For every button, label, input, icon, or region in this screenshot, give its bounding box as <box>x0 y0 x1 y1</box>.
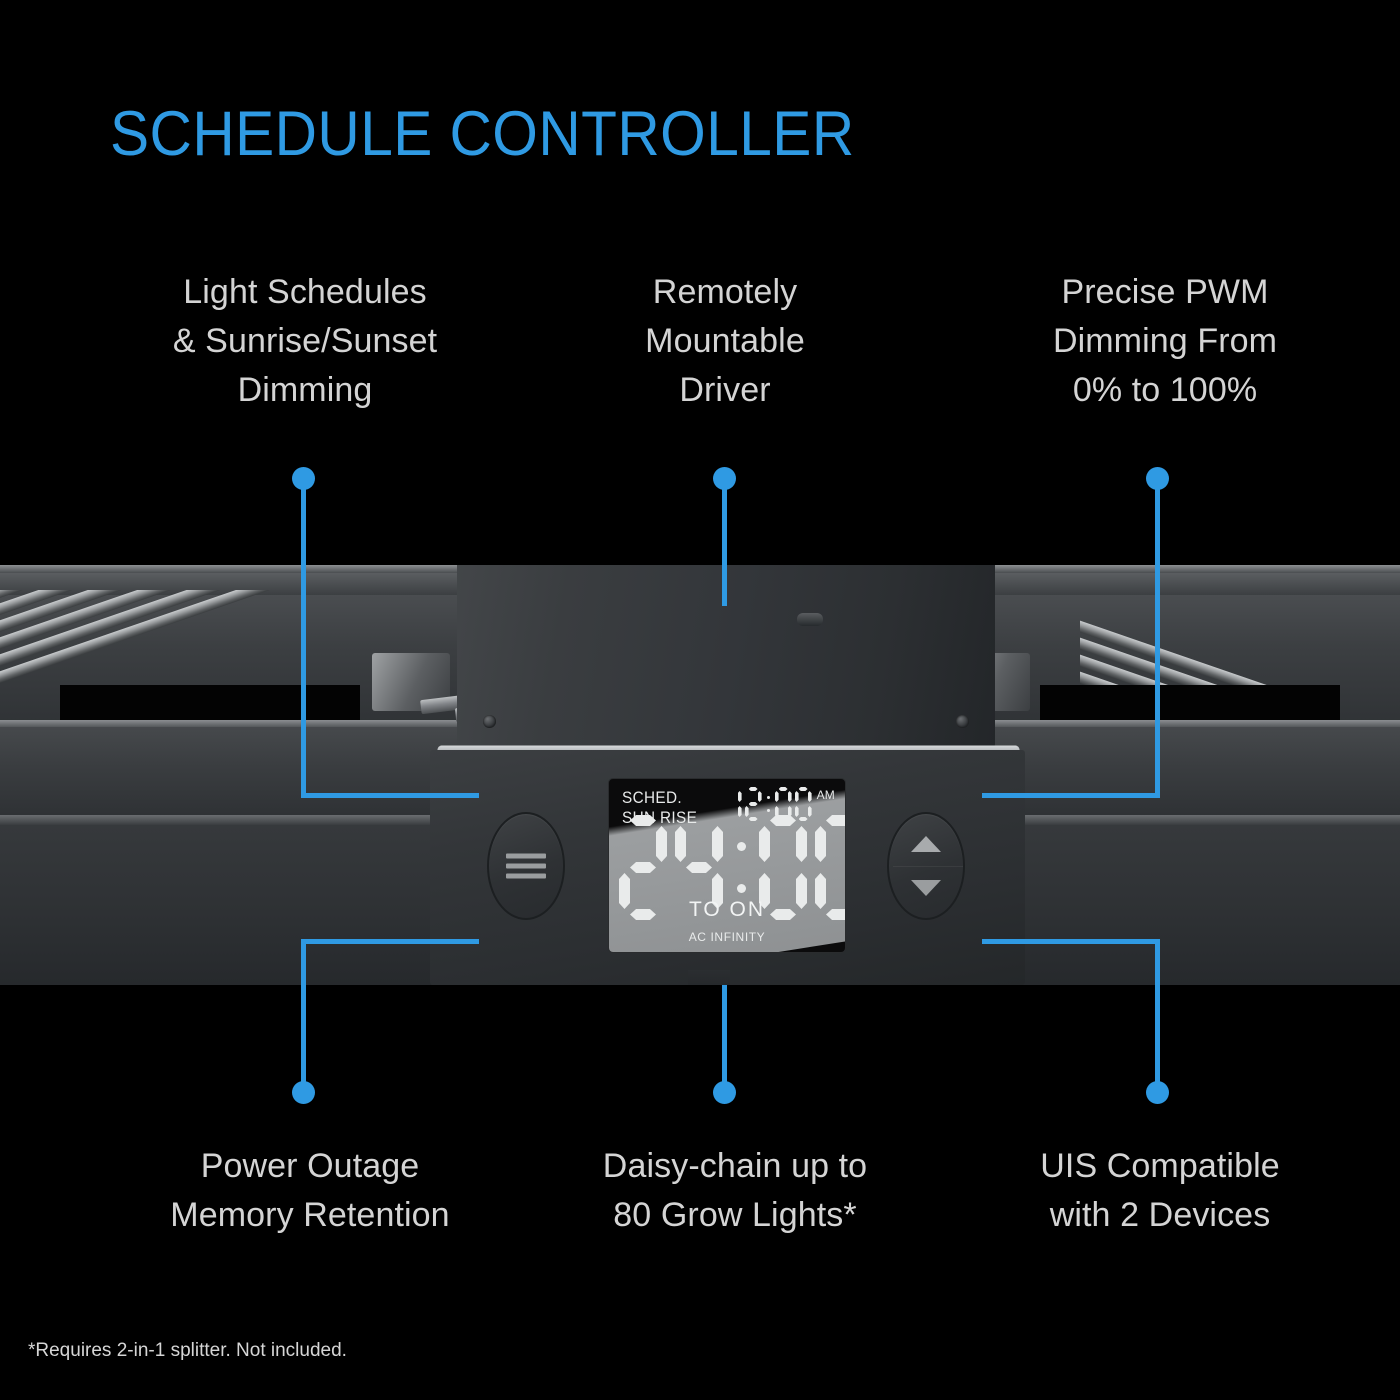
lcd-status-label: TO ON <box>609 898 845 922</box>
callout-line-bottom-left-h <box>301 939 479 944</box>
callout-line-bottom-right-h <box>982 939 1160 944</box>
callout-dot-bottom-center <box>713 1081 736 1104</box>
hamburger-icon <box>506 849 546 884</box>
feature-label-uis-compatible: UIS Compatible with 2 Devices <box>960 1142 1360 1240</box>
feature-label-memory-retention: Power Outage Memory Retention <box>100 1142 520 1240</box>
product-photo: SCHED. SUN RISE AM TO ON AC INFINITY <box>0 565 1400 985</box>
controller-module: SCHED. SUN RISE AM TO ON AC INFINITY <box>430 750 1025 985</box>
page-title: SCHEDULE CONTROLLER <box>110 98 855 170</box>
callout-line-top-center-v <box>722 478 727 606</box>
lcd-meridiem: AM <box>817 788 835 802</box>
driver-screw-bottom-left <box>483 715 496 728</box>
callout-dot-bottom-right <box>1146 1081 1169 1104</box>
driver-screw-bottom-right <box>956 715 969 728</box>
button-divider <box>893 866 963 867</box>
lcd-display[interactable]: SCHED. SUN RISE AM TO ON AC INFINITY <box>608 778 846 953</box>
callout-dot-bottom-left <box>292 1081 315 1104</box>
callout-line-bottom-right-v <box>1155 939 1160 1094</box>
driver-port <box>797 613 823 626</box>
callout-line-top-left-v <box>301 478 306 798</box>
feature-label-daisy-chain: Daisy-chain up to 80 Grow Lights* <box>540 1142 930 1240</box>
feature-label-pwm-dimming: Precise PWM Dimming From 0% to 100% <box>990 268 1340 415</box>
feature-label-remote-driver: Remotely Mountable Driver <box>560 268 890 415</box>
controller-cable <box>688 970 730 985</box>
callout-line-top-left-h <box>301 793 479 798</box>
feature-label-light-schedules: Light Schedules & Sunrise/Sunset Dimming <box>90 268 520 415</box>
lcd-brand-label: AC INFINITY <box>609 930 845 944</box>
callout-line-bottom-left-v <box>301 939 306 1094</box>
infographic-canvas: SCHEDULE CONTROLLER Light Schedules & Su… <box>0 0 1400 1400</box>
callout-line-bottom-center-v <box>722 985 727 1093</box>
chevron-up-icon <box>911 836 941 852</box>
menu-button[interactable] <box>487 812 565 920</box>
callout-line-top-right-h <box>982 793 1160 798</box>
chevron-down-icon <box>911 880 941 896</box>
callout-line-top-right-v <box>1155 478 1160 798</box>
footnote: *Requires 2-in-1 splitter. Not included. <box>28 1340 347 1362</box>
up-down-button[interactable] <box>887 812 965 920</box>
